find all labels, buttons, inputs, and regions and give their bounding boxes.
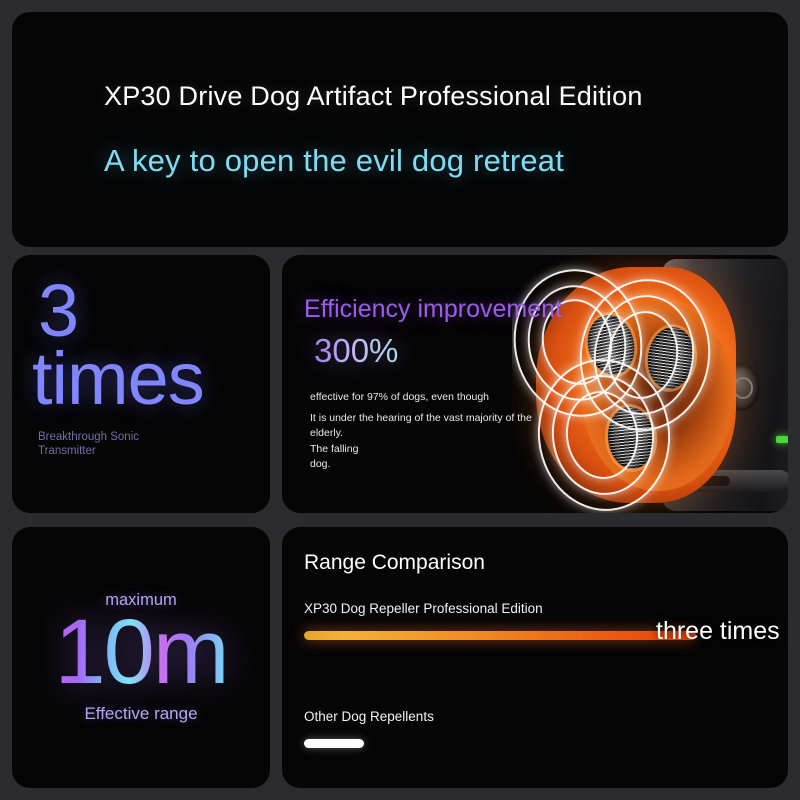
comparison-title: Range Comparison	[304, 551, 766, 575]
comparison-row-label: Other Dog Repellents	[304, 709, 594, 725]
efficiency-text-block: Efficiency improvement 300% effective fo…	[304, 255, 634, 513]
promo-infographic: XP30 Drive Dog Artifact Professional Edi…	[0, 0, 800, 800]
comparison-callout: three times	[656, 617, 780, 646]
range-card: maximum 10m Effective range	[12, 527, 270, 788]
multiplier-unit: times	[32, 343, 250, 416]
multiplier-number: 3	[38, 277, 250, 345]
hero-panel: XP30 Drive Dog Artifact Professional Edi…	[12, 12, 788, 247]
range-caption: Effective range	[84, 704, 197, 724]
multiplier-caption: Breakthrough Sonic Transmitter	[38, 430, 188, 459]
page-title: XP30 Drive Dog Artifact Professional Edi…	[104, 80, 788, 112]
efficiency-body-line-4: dog.	[310, 457, 550, 472]
efficiency-body: effective for 97% of dogs, even though I…	[310, 390, 550, 472]
comparison-bar-track: three times	[304, 625, 766, 647]
comparison-bar-xp30	[304, 631, 696, 640]
efficiency-body-line-3: The falling	[310, 442, 550, 457]
comparison-bar-track	[304, 733, 766, 755]
efficiency-title: Efficiency improvement	[304, 295, 634, 324]
comparison-card: Range Comparison XP30 Dog Repeller Profe…	[282, 527, 788, 788]
multiplier-card: 3 times Breakthrough Sonic Transmitter	[12, 255, 270, 513]
comparison-row-label: XP30 Dog Repeller Professional Edition	[304, 601, 594, 617]
comparison-bar-other	[304, 739, 364, 748]
hero-subtitle: A key to open the evil dog retreat	[104, 142, 788, 179]
efficiency-card: Efficiency improvement 300% effective fo…	[282, 255, 788, 513]
efficiency-body-line-2: It is under the hearing of the vast majo…	[310, 411, 550, 441]
comparison-row: Other Dog Repellents	[304, 709, 766, 755]
comparison-row: XP30 Dog Repeller Professional Edition t…	[304, 601, 766, 647]
device-led-indicator	[776, 436, 788, 443]
efficiency-body-line-1: effective for 97% of dogs, even though	[310, 390, 550, 405]
efficiency-percent: 300%	[314, 332, 398, 370]
range-value: 10m	[55, 604, 228, 701]
